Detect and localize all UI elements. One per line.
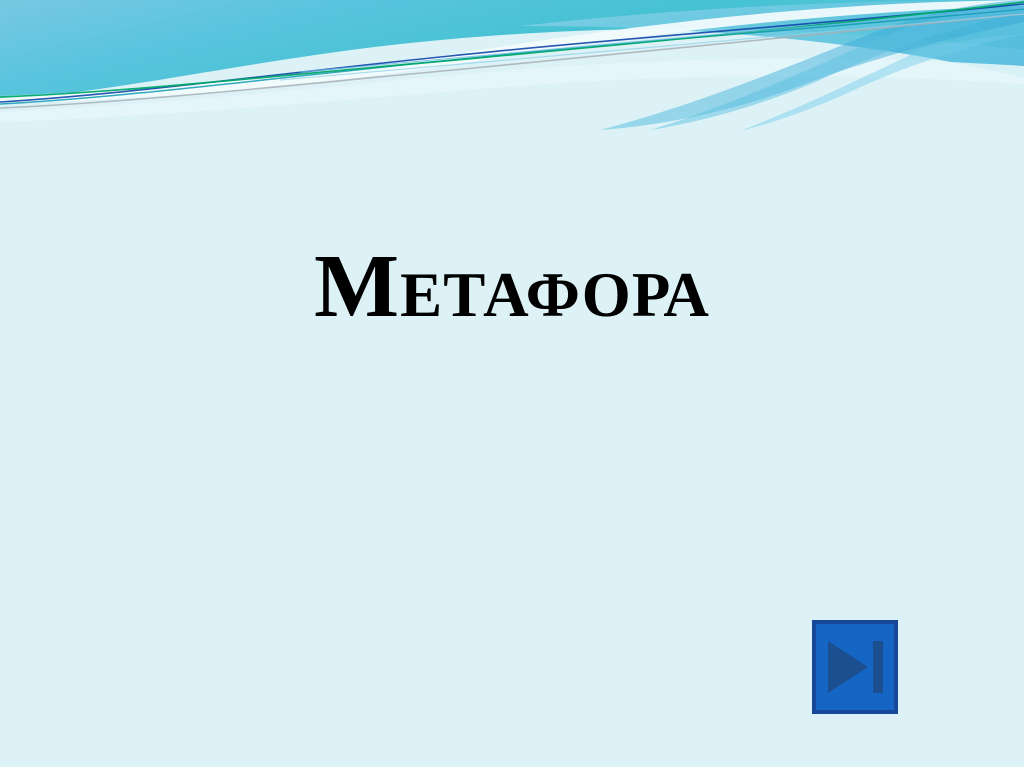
page-title: Метафора bbox=[314, 240, 710, 335]
wave-header-graphic bbox=[0, 0, 1024, 135]
presentation-slide: Метафора bbox=[0, 0, 1024, 767]
next-slide-button[interactable] bbox=[812, 620, 898, 714]
title-area: Метафора bbox=[0, 240, 1024, 335]
skip-forward-icon bbox=[824, 636, 886, 698]
